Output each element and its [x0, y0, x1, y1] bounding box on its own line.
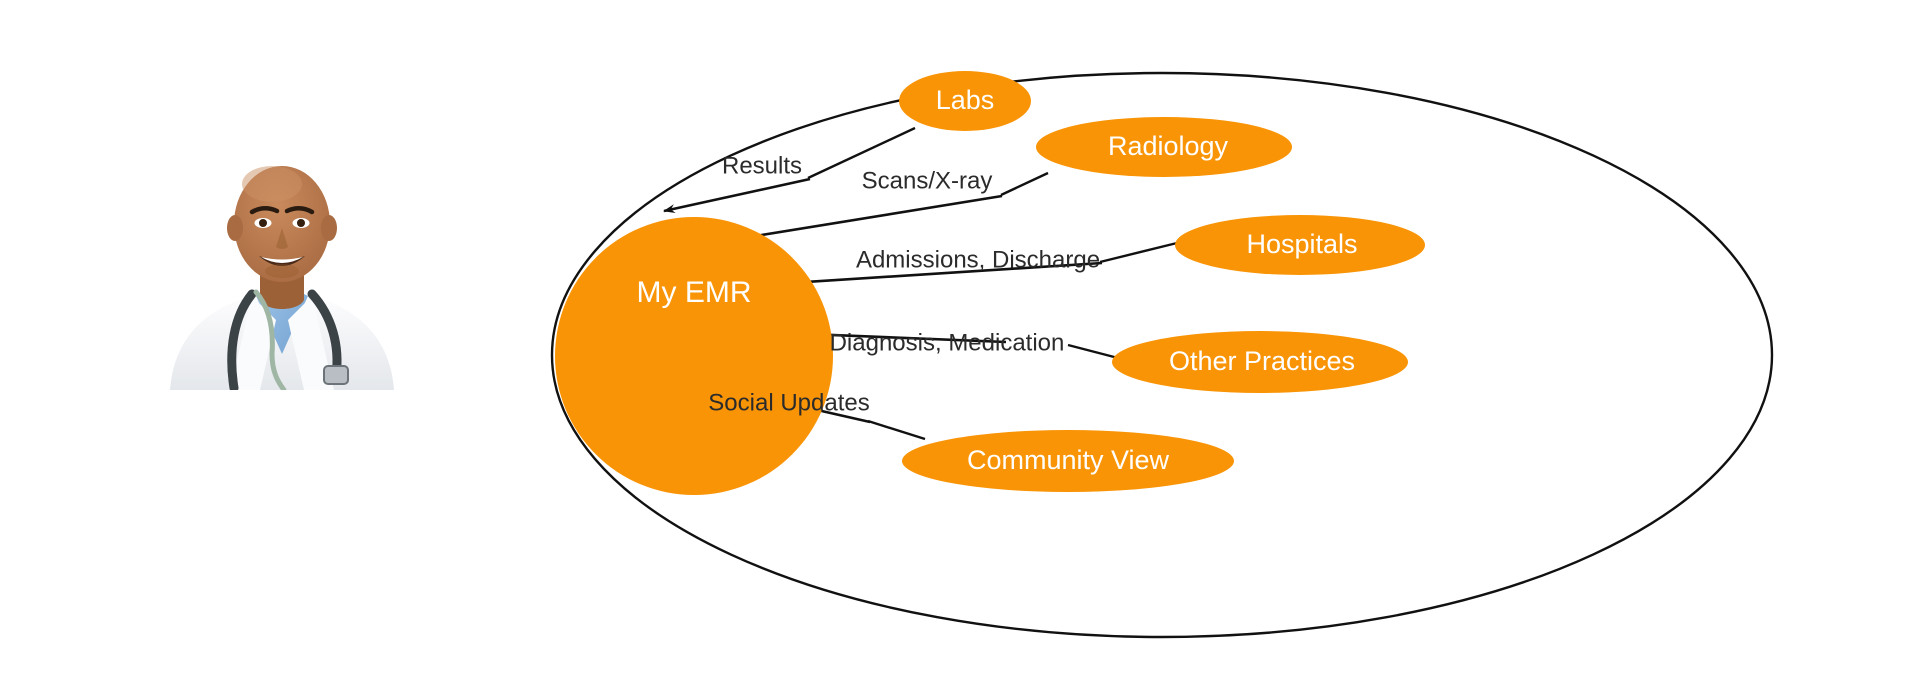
- connector-hospitals: [1100, 243, 1177, 262]
- node-radiology-label: Radiology: [1108, 131, 1229, 161]
- node-hospitals-label: Hospitals: [1246, 229, 1357, 259]
- node-community-view-label: Community View: [967, 445, 1170, 475]
- hub-node-label: My EMR: [637, 276, 752, 309]
- edge-label-social-updates: Social Updates: [708, 389, 869, 416]
- edge-label-scans-xray: Scans/X-ray: [862, 167, 993, 194]
- edge-label-results: Results: [722, 152, 802, 179]
- connector-other-practices: [1068, 345, 1118, 358]
- node-other-practices-label: Other Practices: [1169, 346, 1355, 376]
- edge-label-admissions-discharge: Admissions, Discharge: [856, 246, 1100, 273]
- diagram-canvas: My EMR Labs Radiology Hospitals Other Pr…: [0, 0, 1920, 700]
- hub-node-my-emr[interactable]: [555, 217, 833, 495]
- node-labs-label: Labs: [936, 85, 995, 115]
- arrow-results: [664, 179, 810, 211]
- edge-label-diagnosis-medication: Diagnosis, Medication: [830, 329, 1065, 356]
- connector-radiology: [1001, 173, 1048, 195]
- connector-community-view: [868, 421, 925, 439]
